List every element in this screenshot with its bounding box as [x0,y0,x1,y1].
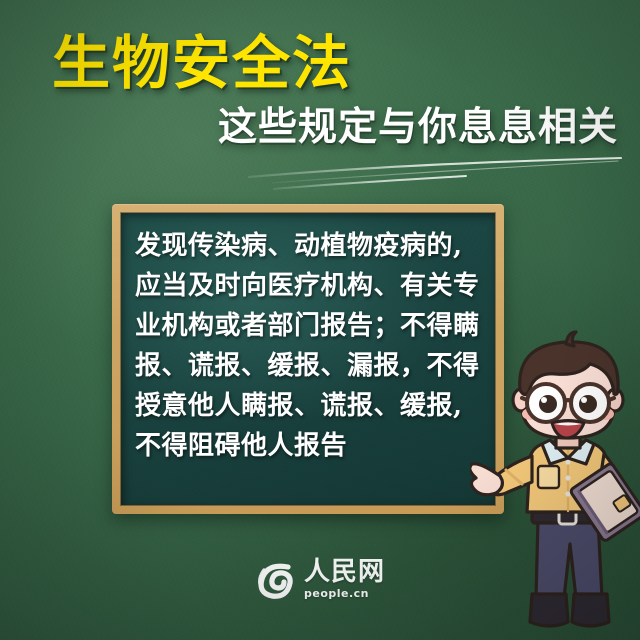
logo-chinese-text: 人民网 [304,559,385,585]
blackboard-line: 报、谎报、缓报、漏报，不得 [135,346,483,386]
blackboard-surface: 发现传染病、动植物疫病的, 应当及时向医疗机构、有关专 业机构或者部门报告；不得… [121,213,495,505]
blackboard-line: 业机构或者部门报告；不得瞒 [135,306,483,346]
poster-canvas: 生物安全法 这些规定与你息息相关 发现传染病、动植物疫病的, 应当及时向医疗机构… [0,0,640,640]
blackboard-line: 发现传染病、动植物疫病的, [135,226,483,266]
logo-wordmark: 人民网 people.cn [304,559,385,599]
site-logo: 人民网 people.cn [0,556,640,602]
page-subtitle: 这些规定与你息息相关 [218,108,618,147]
logo-english-text: people.cn [304,588,369,599]
blackboard-line: 不得阻碍他人报告 [135,426,483,466]
blackboard-line: 应当及时向医疗机构、有关专 [135,266,483,306]
decorative-swoosh-lines [0,150,640,206]
shirt-button [565,475,570,480]
page-title: 生物安全法 [52,34,352,92]
hand-pointing [470,464,502,495]
people-cn-logo-icon [255,559,295,599]
blackboard-line: 授意他人瞒报、谎报、缓报, [135,386,483,426]
blackboard-frame: 发现传染病、动植物疫病的, 应当及时向医疗机构、有关专 业机构或者部门报告；不得… [112,204,504,514]
hair-cowlick [566,332,576,346]
shirt-pocket [538,466,559,488]
